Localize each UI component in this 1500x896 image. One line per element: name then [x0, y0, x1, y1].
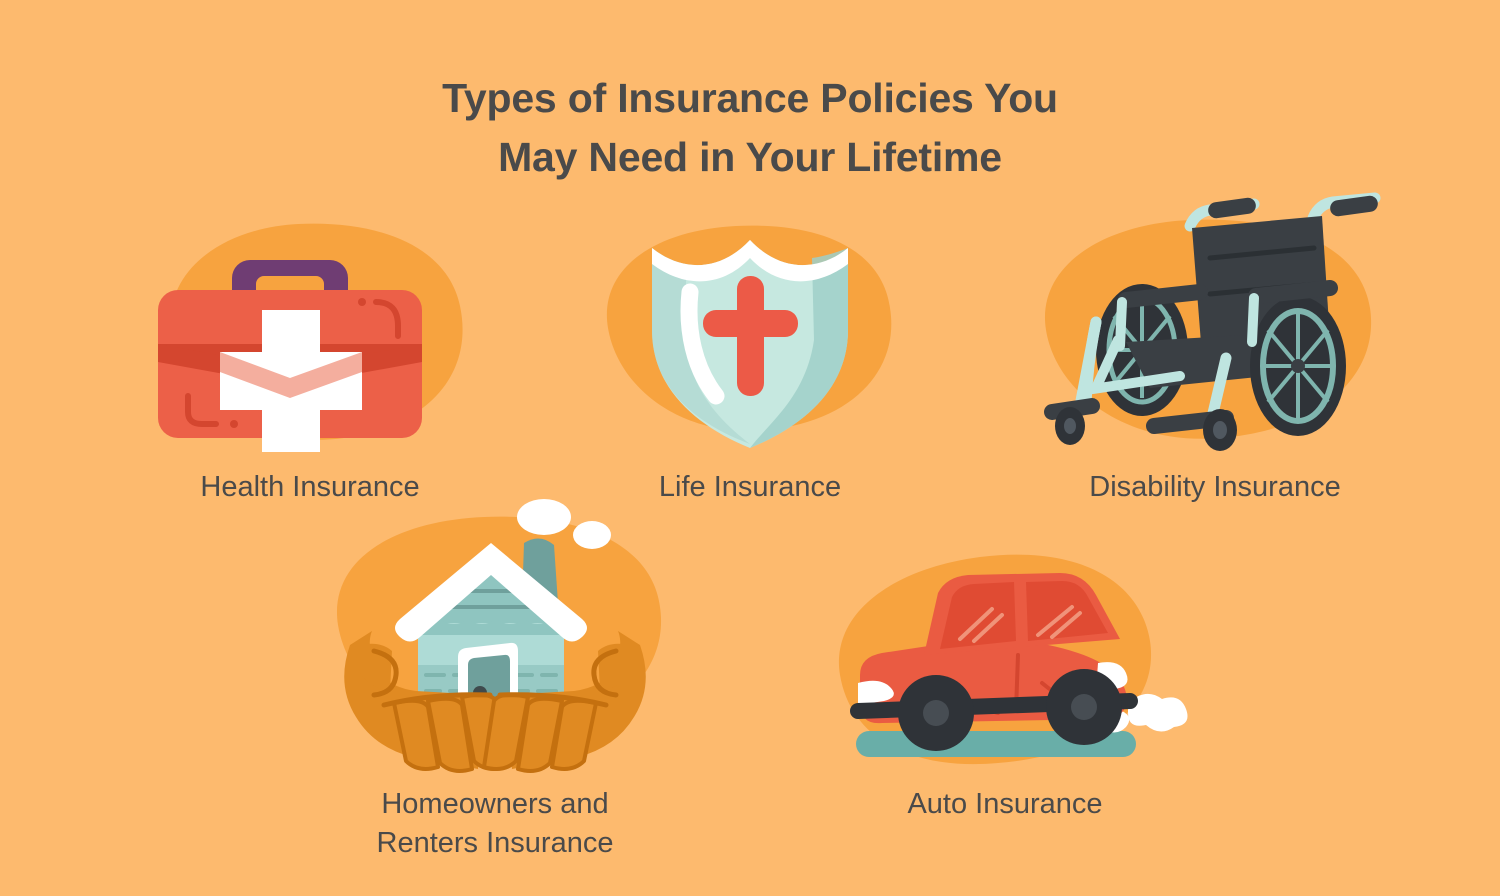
title-line-1: Types of Insurance Policies You: [0, 69, 1500, 127]
card-home-insurance-label: Homeowners and Renters Insurance: [320, 785, 670, 862]
card-auto-insurance[interactable]: Auto Insurance: [830, 535, 1180, 855]
car-icon: [830, 535, 1180, 780]
house-in-hands-icon: [320, 495, 670, 780]
infographic-canvas: Types of Insurance Policies You May Need…: [0, 0, 1500, 896]
card-home-insurance[interactable]: Homeowners and Renters Insurance: [320, 495, 670, 885]
shield-cross-icon: [590, 210, 910, 460]
first-aid-kit-icon: [130, 210, 490, 460]
card-health-insurance[interactable]: Health Insurance: [130, 210, 490, 520]
page-title: Types of Insurance Policies You May Need…: [0, 69, 1500, 185]
wheelchair-icon: [1030, 190, 1400, 455]
title-line-2: May Need in Your Lifetime: [0, 128, 1500, 186]
card-disability-insurance-label: Disability Insurance: [1030, 468, 1400, 507]
card-disability-insurance[interactable]: Disability Insurance: [1030, 190, 1400, 520]
card-auto-insurance-label: Auto Insurance: [830, 785, 1180, 824]
card-life-insurance[interactable]: Life Insurance: [590, 210, 910, 520]
